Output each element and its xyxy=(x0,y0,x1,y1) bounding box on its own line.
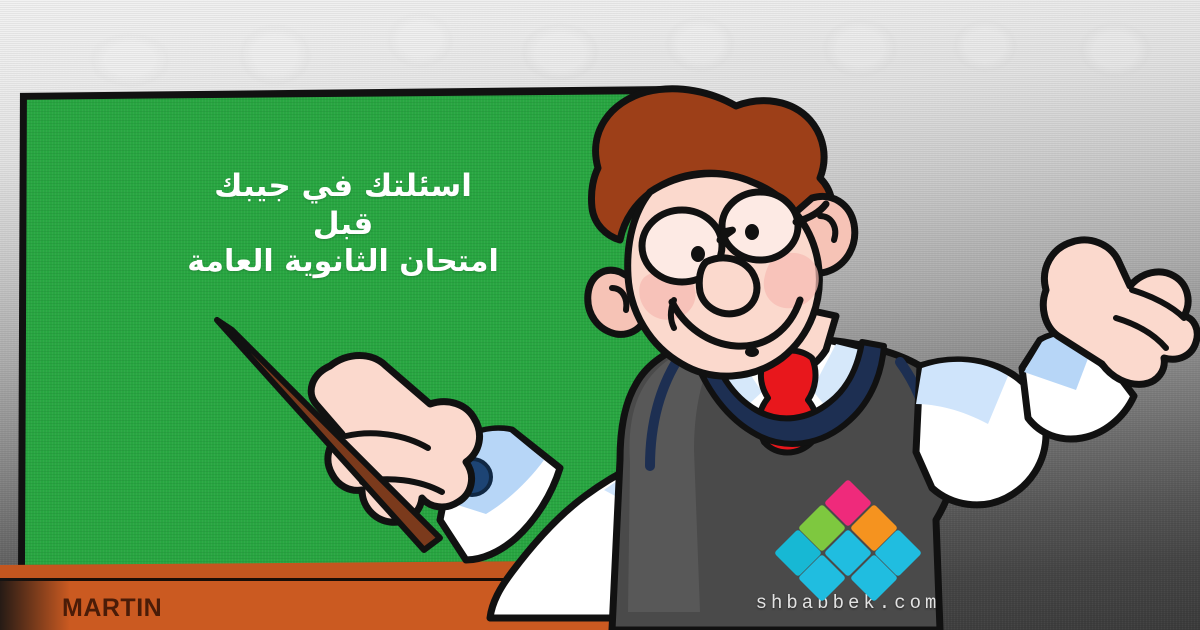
shbabbek-diamond-logo xyxy=(792,486,904,578)
teacher-nose xyxy=(699,258,757,314)
teacher-figure xyxy=(0,0,1200,630)
teacher-eye-left xyxy=(691,246,705,262)
screenshot-canvas: اسئلتك في جيبك قبل امتحان الثانوية العام… xyxy=(0,0,1200,630)
teacher-illustration xyxy=(0,0,1200,630)
teacher-chin-dimple xyxy=(745,347,759,357)
watermark: shbabbek.com xyxy=(738,486,958,614)
teacher-glasses-lens-right xyxy=(722,192,798,260)
teacher-mouth-corner xyxy=(671,300,674,328)
teacher-eye-right xyxy=(745,224,759,240)
watermark-site-text: shbabbek.com xyxy=(738,592,958,614)
